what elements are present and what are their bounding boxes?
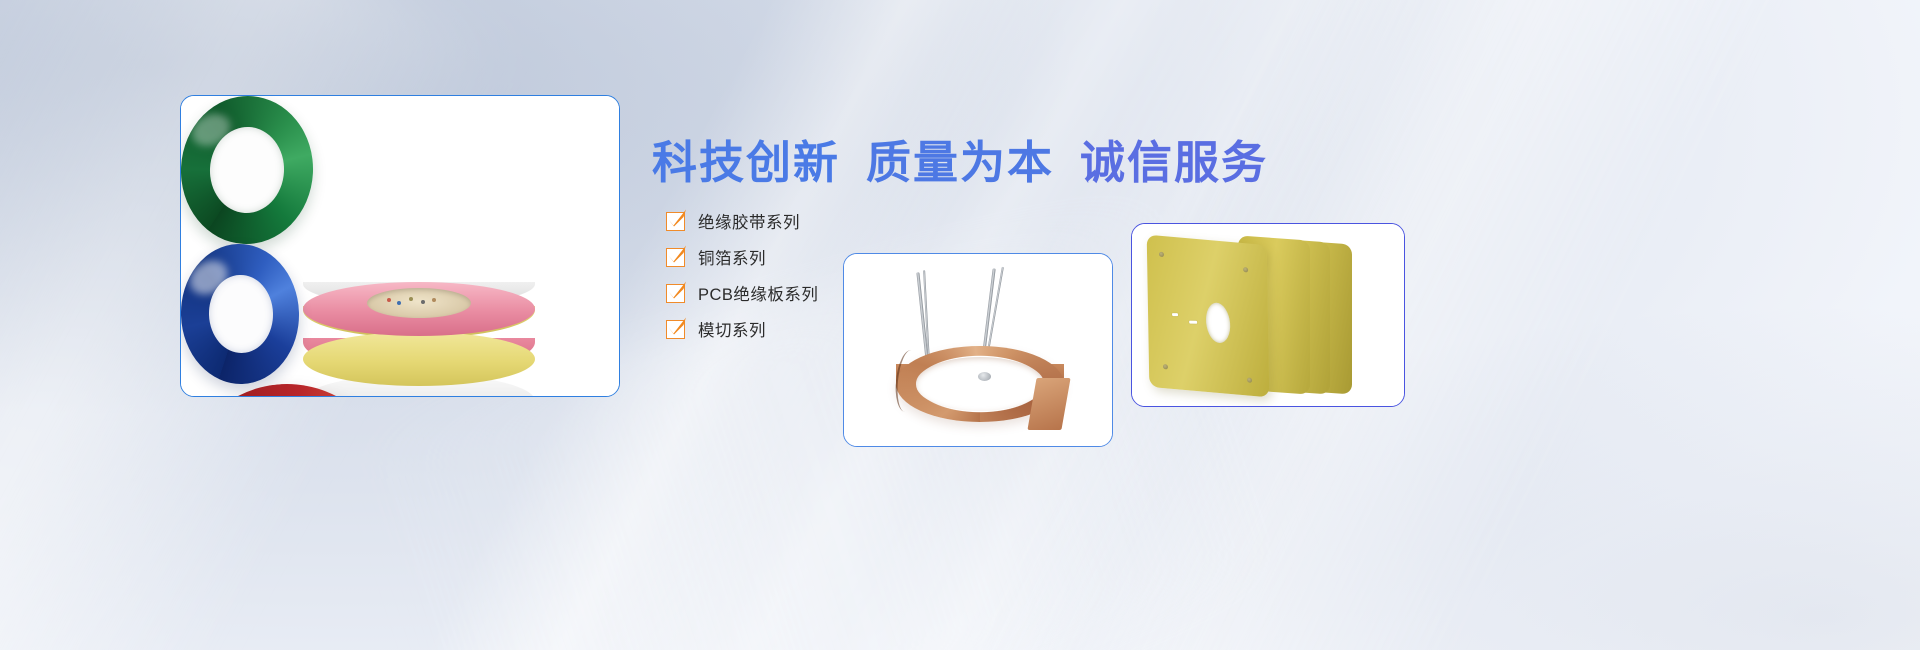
orange-check-box-icon — [666, 320, 685, 339]
insulation-boards-image — [1132, 224, 1404, 406]
board-screw — [1163, 364, 1168, 369]
copper-foil-image — [844, 254, 1112, 446]
list-item-label: 绝缘胶带系列 — [698, 209, 800, 233]
list-item[interactable]: 模切系列 — [666, 311, 818, 347]
list-item[interactable]: 铜箔系列 — [666, 239, 818, 275]
orange-check-box-icon — [666, 248, 685, 267]
banner-headline: 科技创新质量为本诚信服务 — [652, 126, 1268, 191]
tape-roll-blue — [181, 242, 301, 386]
tape-roll-yellow — [303, 332, 535, 386]
tape-roll-stack — [303, 282, 535, 396]
list-item-label: 铜箔系列 — [698, 245, 766, 269]
board-slot — [1189, 321, 1197, 324]
board-screw — [1243, 267, 1248, 272]
headline-segment-2: 质量为本 — [866, 137, 1054, 188]
board-screw — [1247, 377, 1252, 382]
tape-rolls-image — [181, 96, 619, 396]
tape-roll-core-specks — [383, 296, 443, 308]
product-series-list: 绝缘胶带系列 铜箔系列 PCB绝缘板系列 — [666, 203, 818, 347]
list-item[interactable]: 绝缘胶带系列 — [666, 203, 818, 239]
list-item-label: PCB绝缘板系列 — [698, 281, 818, 305]
product-photo-tape-rolls[interactable] — [180, 95, 620, 397]
hero-banner: 科技创新质量为本诚信服务 绝缘胶带系列 铜箔系列 — [0, 0, 1920, 650]
solder-joint — [978, 372, 991, 381]
orange-check-box-icon — [666, 284, 685, 303]
list-item-label: 模切系列 — [698, 317, 766, 341]
tape-roll-green — [181, 96, 317, 247]
headline-segment-3: 诚信服务 — [1080, 137, 1268, 188]
board-oval-cutout — [1204, 303, 1231, 344]
copper-coil-opening — [916, 357, 1044, 410]
orange-check-box-icon — [666, 212, 685, 231]
list-item[interactable]: PCB绝缘板系列 — [666, 275, 818, 311]
board-screw — [1159, 252, 1164, 257]
product-photo-copper-foil[interactable] — [843, 253, 1113, 447]
headline-segment-1: 科技创新 — [652, 137, 840, 188]
insulation-board-front — [1147, 235, 1270, 398]
product-photo-insulation-boards[interactable] — [1131, 223, 1405, 407]
board-slot — [1172, 313, 1178, 316]
